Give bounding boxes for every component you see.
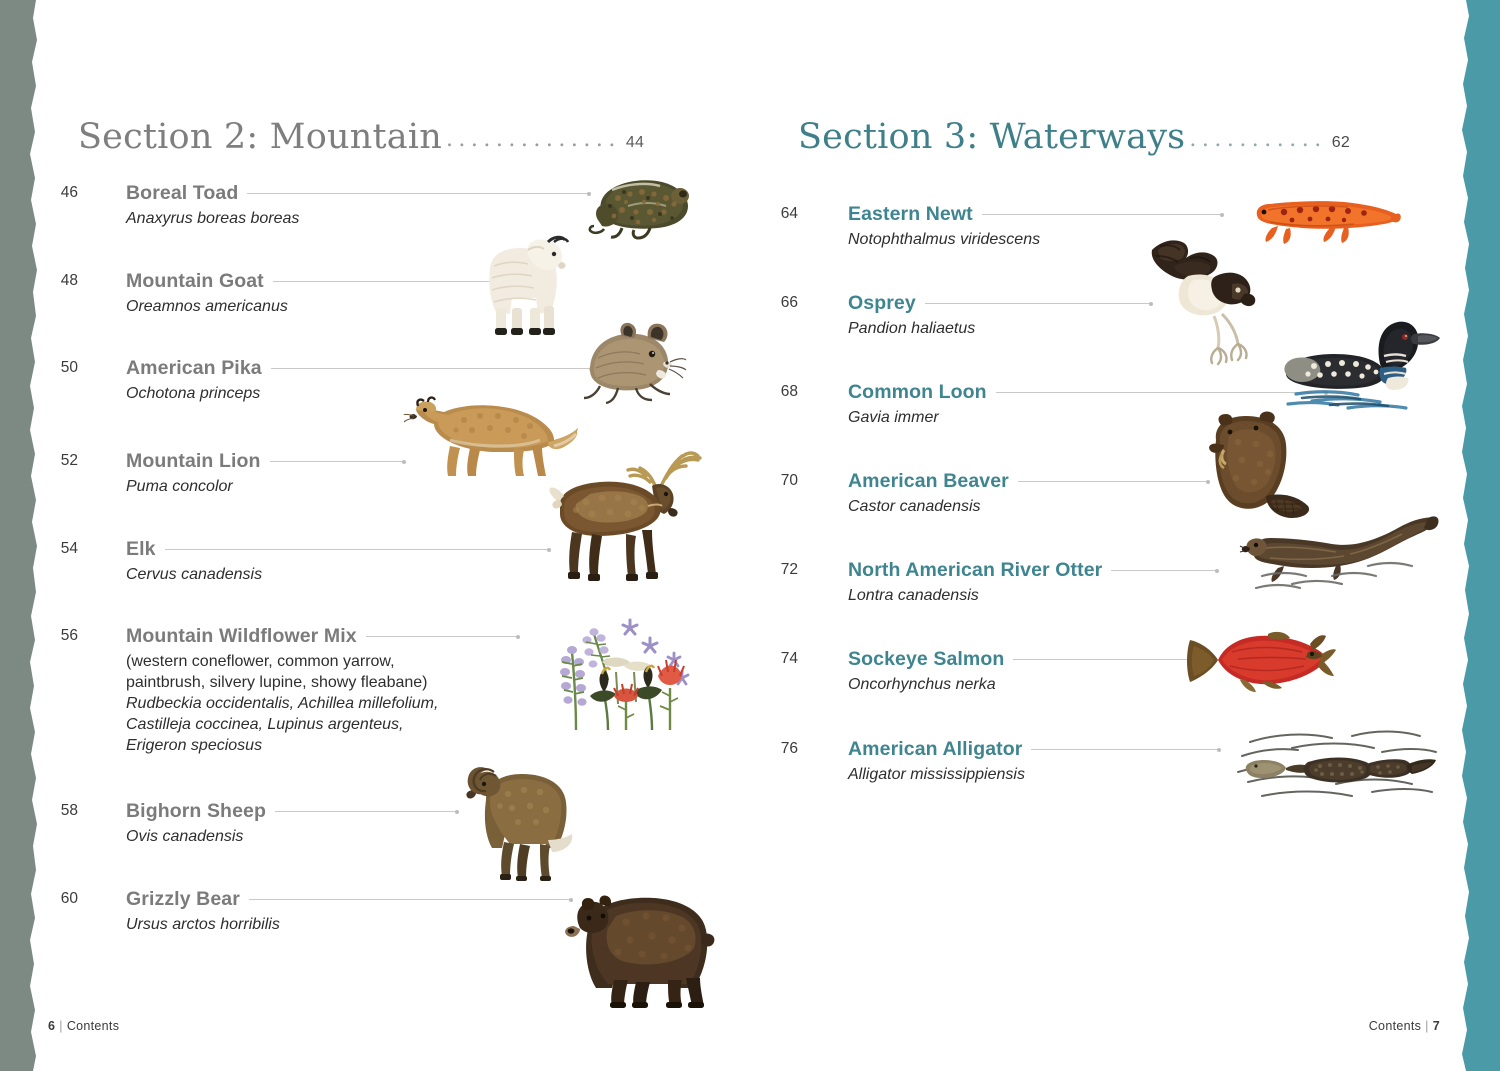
entry-name: Osprey [848, 292, 916, 315]
entry-page-number: 68 [758, 383, 798, 401]
leader-line [270, 461, 404, 462]
entry-page-number: 58 [38, 802, 78, 820]
leader-line [271, 368, 591, 369]
entry-page-number: 72 [758, 561, 798, 579]
leader-line [982, 214, 1222, 215]
section-page-number: 44 [626, 134, 644, 152]
entry-latin-name: Oncorhynchus nerka [848, 674, 1195, 695]
entry-latin-line-2: Castilleja coccinea, Lupinus argenteus, [126, 714, 518, 735]
entry-latin-name: Pandion haliaetus [848, 318, 1151, 339]
entry-common-names-line-2: paintbrush, silvery lupine, showy fleaba… [126, 672, 518, 693]
entry-name: Mountain Goat [126, 270, 264, 293]
leader-line [1018, 481, 1208, 482]
entry-name: American Pika [126, 357, 262, 380]
entry-page-number: 54 [38, 540, 78, 558]
elk-illustration [530, 448, 710, 582]
section-heading-waterways: Section 3: Waterways ........... 62 [798, 117, 1350, 157]
leader-line [925, 303, 1151, 304]
entry-page-number: 70 [758, 472, 798, 490]
section-heading-mountain: Section 2: Mountain .............. 44 [78, 117, 644, 157]
entry-name: Grizzly Bear [126, 888, 240, 911]
leader-line [165, 549, 549, 550]
right-page-footer: Contents|7 [1369, 1019, 1440, 1033]
entry-latin-name: Lontra canadensis [848, 585, 1217, 606]
footer-separator: | [55, 1019, 67, 1033]
footer-label: Contents [67, 1019, 119, 1033]
entry-page-number: 48 [38, 272, 78, 290]
american-pika-illustration [578, 318, 686, 406]
bighorn-sheep-illustration [460, 756, 582, 880]
leader-line [247, 193, 589, 194]
american-alligator-illustration [1232, 722, 1438, 818]
entry-latin-line-1: Rudbeckia occidentalis, Achillea millefo… [126, 693, 518, 714]
entry-name: Bighorn Sheep [126, 800, 266, 823]
entry-name: Mountain Lion [126, 450, 261, 473]
entry-latin-name: Anaxyrus boreas boreas [126, 208, 589, 229]
entry-name: North American River Otter [848, 559, 1102, 582]
section-page-number: 62 [1332, 134, 1350, 152]
osprey-illustration [1144, 236, 1280, 364]
entry-name: Mountain Wildflower Mix [126, 625, 357, 648]
entry-name: Common Loon [848, 381, 987, 404]
american-beaver-illustration [1200, 410, 1316, 522]
leader-line [366, 636, 518, 637]
footer-label: Contents [1369, 1019, 1421, 1033]
entry-page-number: 50 [38, 359, 78, 377]
entry-page-number: 52 [38, 452, 78, 470]
footer-separator: | [1421, 1019, 1433, 1033]
leader-line [1111, 570, 1217, 571]
mountain-wildflower-mix-illustration [546, 612, 696, 734]
leader-line [1031, 749, 1219, 750]
entry-latin-name: Cervus canadensis [126, 564, 549, 585]
section-title: Section 2: Mountain [78, 117, 442, 157]
entry-page-number: 74 [758, 650, 798, 668]
entry-name: Elk [126, 538, 156, 561]
entry-page-number: 76 [758, 740, 798, 758]
entry-page-number: 46 [38, 184, 78, 202]
entry-name: Sockeye Salmon [848, 648, 1004, 671]
river-otter-illustration [1240, 510, 1440, 596]
common-loon-illustration [1272, 312, 1440, 416]
entry-page-number: 56 [38, 627, 78, 645]
entry-name: American Beaver [848, 470, 1009, 493]
leader-line [1013, 659, 1195, 660]
entry-page-number: 66 [758, 294, 798, 312]
section-title: Section 3: Waterways [798, 117, 1185, 157]
mountain-goat-illustration [468, 236, 578, 340]
leader-dots: ........... [1185, 127, 1331, 152]
entry-latin-name: Oreamnos americanus [126, 296, 513, 317]
entry-latin-name: Puma concolor [126, 476, 404, 497]
entry-name: Eastern Newt [848, 203, 973, 226]
leader-dots: .............. [442, 127, 626, 152]
entry-common-names-line-1: (western coneflower, common yarrow, [126, 651, 518, 672]
footer-page-number: 7 [1433, 1019, 1440, 1033]
entry-latin-name: Castor canadensis [848, 496, 1208, 517]
leader-line [275, 811, 457, 812]
entry-page-number: 60 [38, 890, 78, 908]
entry-page-number: 64 [758, 205, 798, 223]
contents-spread: Section 2: Mountain .............. 44 46… [0, 0, 1500, 1071]
grizzly-bear-illustration [556, 882, 718, 1008]
entry-latin-name: Ursus arctos horribilis [126, 914, 571, 935]
entry-latin-line-3: Erigeron speciosus [126, 735, 518, 756]
boreal-toad-illustration [588, 168, 698, 240]
entry-latin-name: Ovis canadensis [126, 826, 457, 847]
leader-line [249, 899, 571, 900]
left-page-footer: 6|Contents [48, 1019, 119, 1033]
sockeye-salmon-illustration [1178, 626, 1338, 696]
entry-name: Boreal Toad [126, 182, 238, 205]
entry-latin-name: Alligator mississippiensis [848, 764, 1219, 785]
entry-name: American Alligator [848, 738, 1022, 761]
